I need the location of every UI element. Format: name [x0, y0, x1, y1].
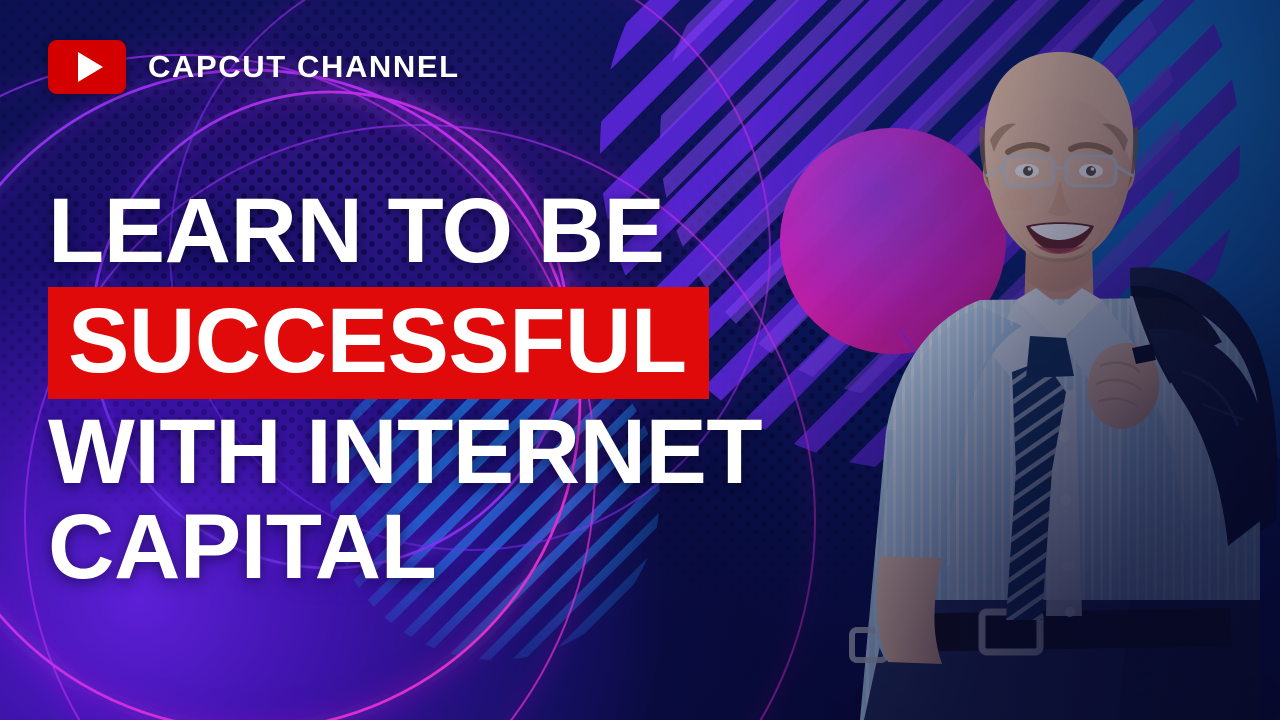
headline-line-3: WITH INTERNET — [48, 407, 868, 498]
head — [979, 52, 1138, 264]
play-triangle — [78, 52, 103, 82]
headline-line-4: CAPITAL — [48, 502, 868, 593]
headline-block: LEARN TO BE SUCCESSFUL WITH INTERNET CAP… — [48, 186, 868, 593]
headline-line-2-highlighted: SUCCESSFUL — [48, 287, 709, 399]
youtube-play-icon[interactable] — [48, 40, 126, 94]
headline-highlight-row: SUCCESSFUL — [48, 287, 868, 399]
channel-badge[interactable]: CAPCUT CHANNEL — [48, 40, 460, 94]
presenter-photo — [830, 0, 1280, 720]
thumbnail-canvas: CAPCUT CHANNEL LEARN TO BE SUCCESSFUL WI… — [0, 0, 1280, 720]
channel-name-label: CAPCUT CHANNEL — [148, 49, 460, 85]
left-forearm — [877, 556, 942, 664]
headline-line-1: LEARN TO BE — [48, 186, 868, 277]
